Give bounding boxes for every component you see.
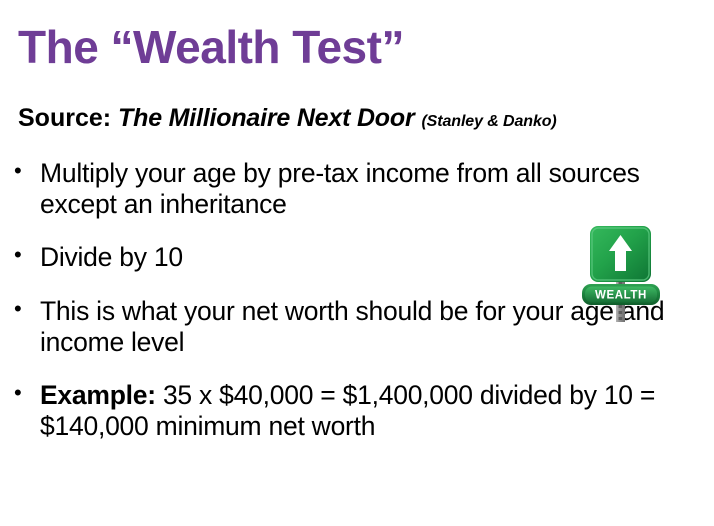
list-item: Multiply your age by pre-tax income from… <box>10 158 680 220</box>
bullet-lead: Example: <box>40 380 156 410</box>
wealth-road-sign-graphic: WEALTH <box>581 224 663 324</box>
source-book-title: The Millionaire Next Door <box>118 104 414 132</box>
page-title: The “Wealth Test” <box>18 22 404 73</box>
bullet-text: Multiply your age by pre-tax income from… <box>40 158 640 219</box>
source-authors: (Stanley & Danko) <box>421 113 556 130</box>
bullet-text: This is what your net worth should be fo… <box>40 296 664 357</box>
list-item: Example: 35 x $40,000 = $1,400,000 divid… <box>10 380 714 442</box>
source-line: Source: The Millionaire Next Door (Stanl… <box>18 104 557 133</box>
bullet-text: Divide by 10 <box>40 242 183 272</box>
wealth-plate-label: WEALTH <box>595 289 647 301</box>
source-label: Source: <box>18 104 111 132</box>
up-arrow-sign <box>590 226 651 282</box>
slide: The “Wealth Test” Source: The Millionair… <box>0 0 714 526</box>
wealth-plate: WEALTH <box>582 284 660 305</box>
